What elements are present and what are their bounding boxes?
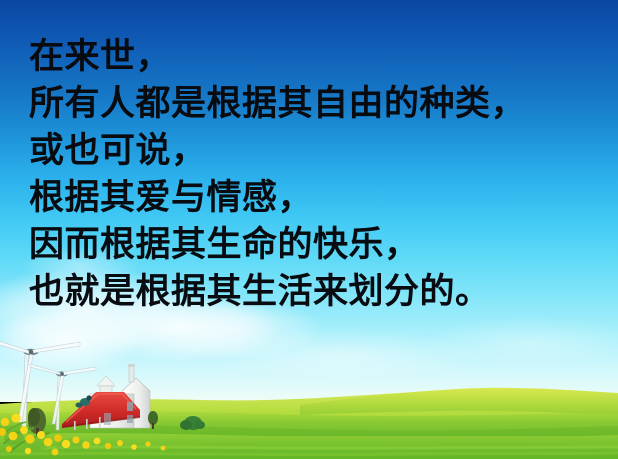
quote-line-2: 所有人都是根据其自由的种类， [29, 81, 599, 128]
quote-line-5: 因而根据其生命的快乐， [29, 222, 599, 269]
quote-line-1: 在来世， [29, 34, 599, 81]
quote-line-4: 根据其爱与情感， [29, 175, 599, 222]
grass-field [0, 386, 618, 459]
quote-slide: 在来世， 所有人都是根据其自由的种类， 或也可说， 根据其爱与情感， 因而根据其… [0, 0, 618, 459]
quote-line-3: 或也可说， [29, 128, 599, 175]
quote-text-block: 在来世， 所有人都是根据其自由的种类， 或也可说， 根据其爱与情感， 因而根据其… [29, 34, 599, 316]
quote-line-6: 也就是根据其生活来划分的。 [29, 269, 599, 316]
